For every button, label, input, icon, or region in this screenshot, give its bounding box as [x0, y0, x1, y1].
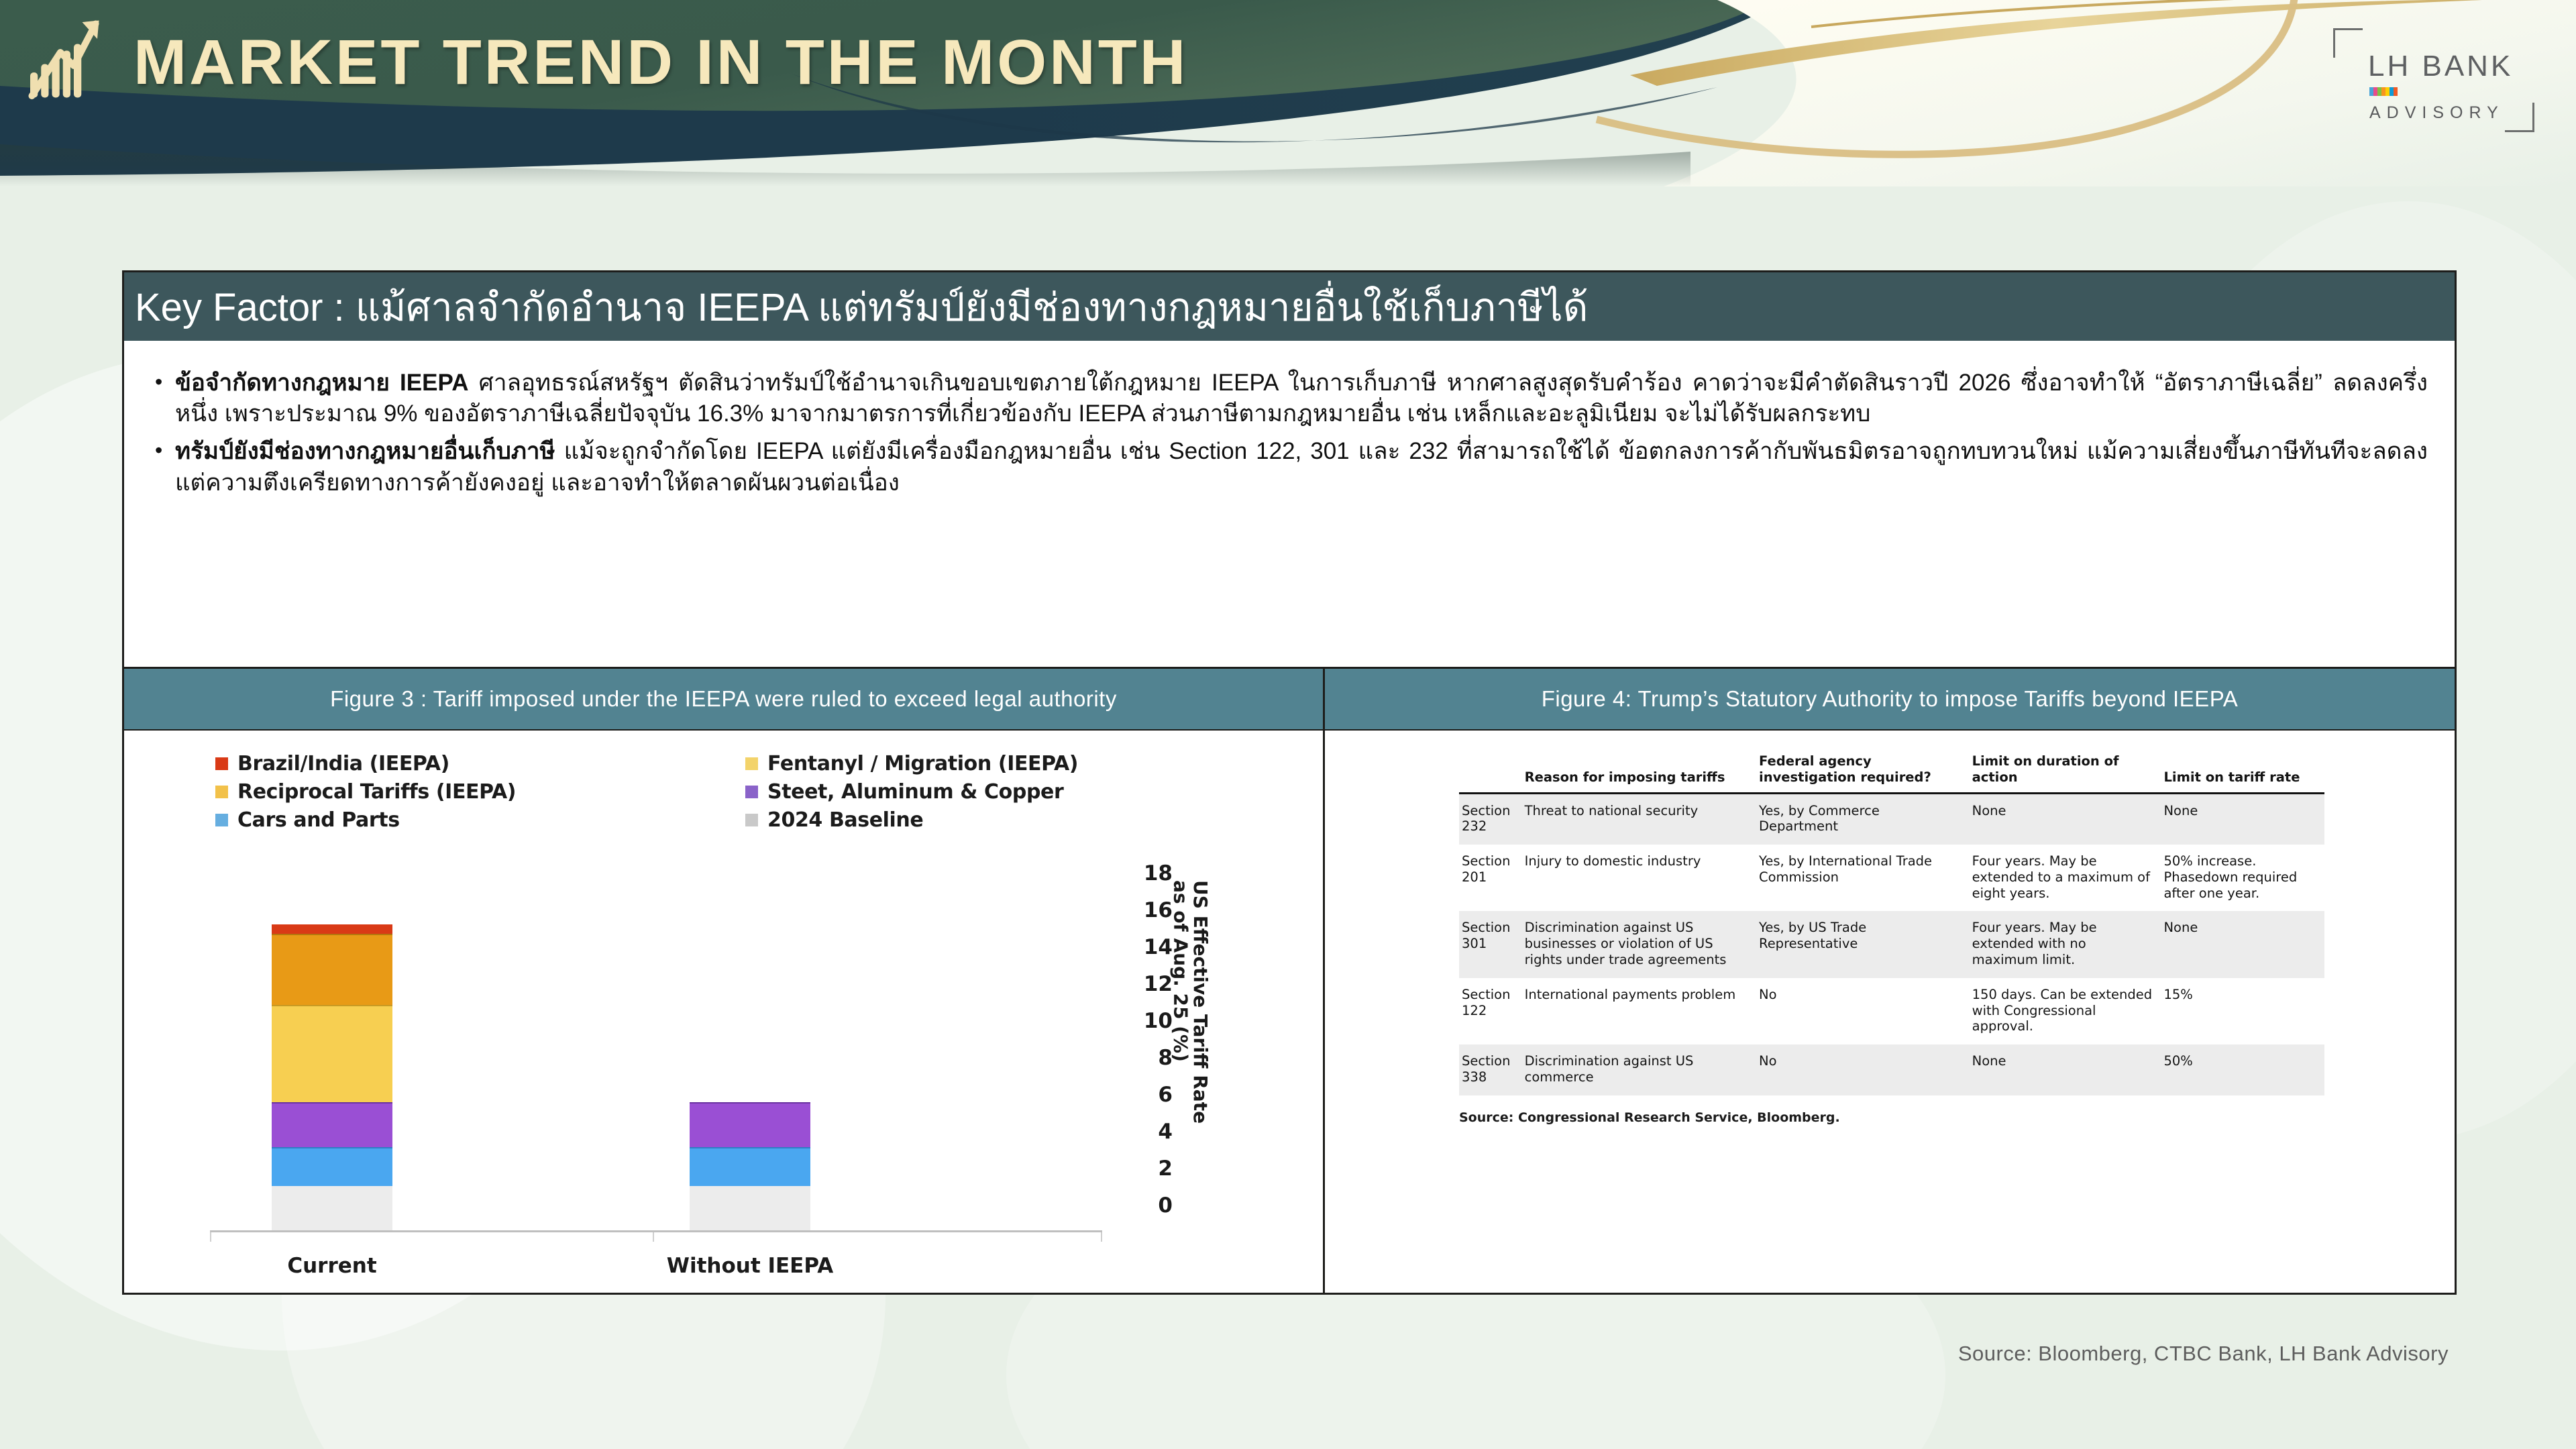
bullet-body: ศาลอุทธรณ์สหรัฐฯ ตัดสินว่าทรัมป์ใช้อำนาจ… [175, 370, 2428, 427]
y-axis-tick-label: 14 [1119, 935, 1173, 959]
cell-rate: 50% [2161, 1044, 2324, 1095]
y-axis-tick-label: 18 [1119, 861, 1173, 885]
table-row: Section 301 Discrimination against US bu… [1459, 911, 2324, 977]
bullet-item: • ทรัมป์ยังมีช่องทางกฎหมายอื่นเก็บภาษี แ… [152, 436, 2428, 498]
cell-duration: None [1970, 1044, 2161, 1095]
legend-item: Cars and Parts [215, 808, 745, 832]
y-axis-tick-label: 10 [1119, 1009, 1173, 1033]
bullet-bold-lead: ข้อจำกัดทางกฎหมาย IEEPA [175, 370, 468, 396]
cell-rate: None [2161, 793, 2324, 845]
brand-color-bars [2369, 87, 2398, 96]
legend-label: Cars and Parts [237, 808, 400, 832]
column-header-reason: Reason for imposing tariffs [1522, 751, 1756, 793]
bar-segment-2024-baseline [272, 1186, 392, 1230]
chart-legend: Brazil/India (IEEPA) Fentanyl / Migratio… [215, 752, 1168, 832]
figure-3: Figure 3 : Tariff imposed under the IEEP… [124, 669, 1325, 1293]
bar-segment-2024-baseline [690, 1186, 810, 1230]
bar-segment-cars-and-parts [272, 1147, 392, 1186]
statutory-authority-table: Reason for imposing tariffs Federal agen… [1459, 751, 2324, 1095]
cell-duration: Four years. May be extended with no maxi… [1970, 911, 2161, 977]
figure-3-title: Figure 3 : Tariff imposed under the IEEP… [330, 686, 1117, 712]
legend-swatch-icon [215, 786, 228, 798]
chart-growth-icon [27, 19, 111, 106]
column-header-duration: Limit on duration of action [1970, 751, 2161, 793]
bullet-text: ข้อจำกัดทางกฎหมาย IEEPA ศาลอุทธรณ์สหรัฐฯ… [175, 368, 2428, 429]
bullet-list: • ข้อจำกัดทางกฎหมาย IEEPA ศาลอุทธรณ์สหรั… [124, 341, 2455, 498]
chart-plot-inner: Current Without IEEPA [210, 897, 1095, 1232]
cell-reason: Threat to national security [1522, 793, 1756, 845]
bullet-marker: • [152, 368, 175, 396]
header-title-group: MARKET TREND IN THE MONTH [27, 19, 1188, 106]
legend-swatch-icon [215, 814, 228, 826]
brand-name: LH BANK [2368, 50, 2513, 83]
cell-reason: International payments problem [1522, 978, 1756, 1044]
bar-stack-without-ieepa [690, 1102, 810, 1230]
cell-duration: 150 days. Can be extended with Congressi… [1970, 978, 2161, 1044]
figure-4-header: Figure 4: Trump’s Statutory Authority to… [1325, 669, 2455, 731]
figure-3-header: Figure 3 : Tariff imposed under the IEEP… [124, 669, 1323, 731]
logo-corner-top-left [2333, 28, 2363, 58]
bar-segment-steel-aluminum-copper [272, 1102, 392, 1147]
chart-x-axis [210, 1230, 1102, 1232]
legend-label: Reciprocal Tariffs (IEEPA) [237, 780, 516, 804]
legend-item: Reciprocal Tariffs (IEEPA) [215, 780, 745, 804]
column-header-section [1459, 751, 1522, 793]
cell-reason: Discrimination against US commerce [1522, 1044, 1756, 1095]
key-factor-title: Key Factor : แม้ศาลจำกัดอำนาจ IEEPA แต่ท… [135, 276, 1588, 338]
slide-root: MARKET TREND IN THE MONTH LH BANK ADVISO… [0, 0, 2576, 1449]
legend-swatch-icon [215, 757, 228, 770]
table-row: Section 201 Injury to domestic industry … [1459, 845, 2324, 911]
table-row: Section 338 Discrimination against US co… [1459, 1044, 2324, 1095]
axis-tick [653, 1232, 654, 1242]
bar-stack-current [272, 924, 392, 1230]
cell-section: Section 232 [1459, 793, 1522, 845]
legend-item: Brazil/India (IEEPA) [215, 752, 745, 775]
y-axis-tick-label: 0 [1119, 1193, 1173, 1218]
y-axis-tick-label: 12 [1119, 972, 1173, 996]
legend-label: 2024 Baseline [767, 808, 923, 832]
footer-source: Source: Bloomberg, CTBC Bank, LH Bank Ad… [1958, 1342, 2449, 1366]
cell-reason: Injury to domestic industry [1522, 845, 1756, 911]
cell-reason: Discrimination against US businesses or … [1522, 911, 1756, 977]
content-card: Key Factor : แม้ศาลจำกัดอำนาจ IEEPA แต่ท… [122, 270, 2457, 1295]
legend-label: Steet, Aluminum & Copper [767, 780, 1063, 804]
figure-4: Figure 4: Trump’s Statutory Authority to… [1325, 669, 2455, 1293]
legend-label: Fentanyl / Migration (IEEPA) [767, 752, 1078, 775]
bullet-bold-lead: ทรัมป์ยังมีช่องทางกฎหมายอื่นเก็บภาษี [175, 438, 555, 464]
table-source-note: Source: Congressional Research Service, … [1459, 1110, 2324, 1125]
y-axis-tick-label: 6 [1119, 1083, 1173, 1107]
cell-federal: No [1756, 1044, 1970, 1095]
cell-rate: None [2161, 911, 2324, 977]
legend-swatch-icon [745, 814, 758, 826]
table-head: Reason for imposing tariffs Federal agen… [1459, 751, 2324, 793]
y-axis-tick-label: 16 [1119, 898, 1173, 922]
cell-rate: 50% increase. Phasedown required after o… [2161, 845, 2324, 911]
figure-4-body: Reason for imposing tariffs Federal agen… [1325, 731, 2455, 1293]
lh-bank-advisory-logo: LH BANK ADVISORY [2333, 28, 2534, 132]
table-row: Section 232 Threat to national security … [1459, 793, 2324, 845]
table-body: Section 232 Threat to national security … [1459, 793, 2324, 1095]
page-header: MARKET TREND IN THE MONTH LH BANK ADVISO… [0, 0, 2576, 186]
cell-section: Section 201 [1459, 845, 1522, 911]
legend-item: Steet, Aluminum & Copper [745, 780, 1168, 804]
logo-corner-bottom-right [2505, 103, 2534, 132]
figures-row: Figure 3 : Tariff imposed under the IEEP… [124, 667, 2455, 1293]
column-header-federal: Federal agency investigation required? [1756, 751, 1970, 793]
bar-segment-brazil-india [272, 924, 392, 934]
page-title: MARKET TREND IN THE MONTH [133, 26, 1188, 99]
cell-duration: None [1970, 793, 2161, 845]
cell-federal: Yes, by Commerce Department [1756, 793, 1970, 845]
bar-segment-fentanyl-migration [272, 934, 392, 1005]
cell-section: Section 338 [1459, 1044, 1522, 1095]
cell-rate: 15% [2161, 978, 2324, 1044]
x-axis-category-label: Without IEEPA [649, 1254, 851, 1278]
legend-item: 2024 Baseline [745, 808, 1168, 832]
y-axis-tick-label: 2 [1119, 1157, 1173, 1181]
y-axis-tick-label: 4 [1119, 1120, 1173, 1144]
axis-tick [210, 1232, 211, 1242]
legend-item: Fentanyl / Migration (IEEPA) [745, 752, 1168, 775]
legend-swatch-icon [745, 786, 758, 798]
figure-3-body: Brazil/India (IEEPA) Fentanyl / Migratio… [124, 731, 1323, 1293]
bar-segment-steel-aluminum-copper [690, 1102, 810, 1147]
cell-federal: Yes, by US Trade Representative [1756, 911, 1970, 977]
legend-swatch-icon [745, 757, 758, 770]
table-row: Section 122 International payments probl… [1459, 978, 2324, 1044]
statutory-authority-table-wrapper: Reason for imposing tariffs Federal agen… [1459, 751, 2324, 1125]
figure-4-title: Figure 4: Trump’s Statutory Authority to… [1542, 686, 2239, 712]
bullet-item: • ข้อจำกัดทางกฎหมาย IEEPA ศาลอุทธรณ์สหรั… [152, 368, 2428, 429]
y-axis-tick-label: 8 [1119, 1046, 1173, 1070]
bullet-text: ทรัมป์ยังมีช่องทางกฎหมายอื่นเก็บภาษี แม้… [175, 436, 2428, 498]
chart-y-axis: 0 2 4 6 8 10 12 14 16 18 [1112, 870, 1173, 1232]
cell-section: Section 301 [1459, 911, 1522, 977]
cell-section: Section 122 [1459, 978, 1522, 1044]
tariff-stacked-bar-chart: Brazil/India (IEEPA) Fentanyl / Migratio… [210, 743, 1223, 1279]
bar-segment-reciprocal-tariffs [272, 1005, 392, 1102]
bar-segment-cars-and-parts [690, 1147, 810, 1186]
legend-label: Brazil/India (IEEPA) [237, 752, 449, 775]
brand-subtitle: ADVISORY [2369, 103, 2504, 123]
x-axis-category-label: Current [231, 1254, 433, 1278]
cell-duration: Four years. May be extended to a maximum… [1970, 845, 2161, 911]
chart-plot-area: Current Without IEEPA [210, 870, 1095, 1232]
y-axis-title: US Effective Tariff Rate as of Aug. 25 (… [1171, 880, 1210, 1124]
axis-tick [1101, 1232, 1102, 1242]
cell-federal: Yes, by International Trade Commission [1756, 845, 1970, 911]
key-factor-bar: Key Factor : แม้ศาลจำกัดอำนาจ IEEPA แต่ท… [124, 272, 2455, 341]
column-header-rate: Limit on tariff rate [2161, 751, 2324, 793]
bullet-marker: • [152, 436, 175, 464]
cell-federal: No [1756, 978, 1970, 1044]
table-header-row: Reason for imposing tariffs Federal agen… [1459, 751, 2324, 793]
